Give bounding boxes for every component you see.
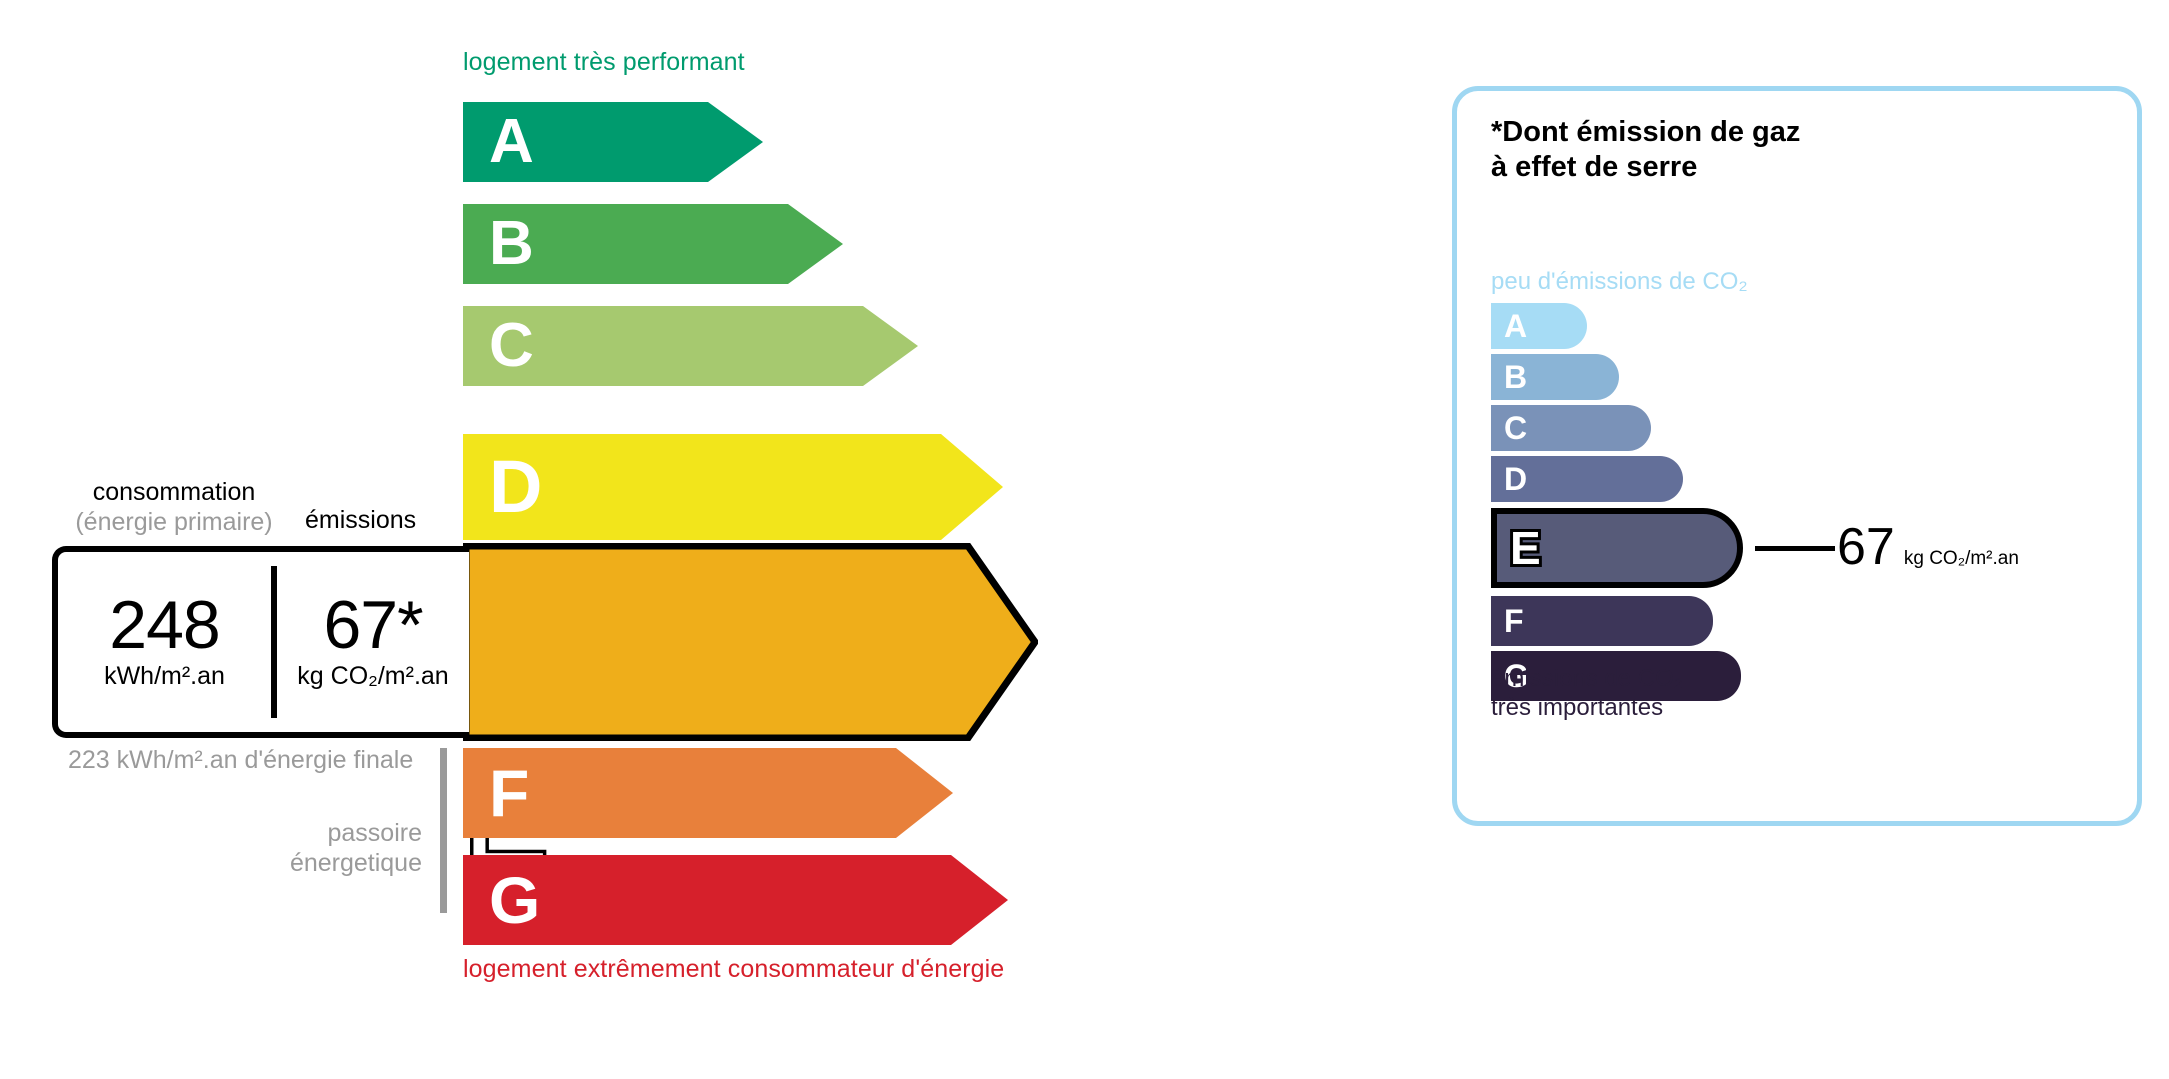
co2-bar-a-letter: A <box>1504 310 1527 342</box>
co2-emissions-panel: *Dont émission de gaz à effet de serre p… <box>1452 86 2142 826</box>
energy-bar-f: F <box>463 748 953 838</box>
co2-bar-e-current: E <box>1491 508 1743 588</box>
co2-top-caption: peu d'émissions de CO₂ <box>1491 268 1748 296</box>
co2-panel-title: *Dont émission de gaz à effet de serre <box>1491 115 1800 186</box>
note-passoire-energetique: passoire énergetique <box>200 818 422 878</box>
co2-value: 67* <box>323 593 422 658</box>
energy-bar-g: G <box>463 855 1008 945</box>
label-consommation: consommation (énergie primaire) <box>64 478 284 537</box>
energy-bar-a: A <box>463 102 763 182</box>
energy-bar-b-letter: B <box>489 213 534 275</box>
passoire-divider-rule <box>440 748 447 913</box>
energy-bar-g-letter: G <box>489 867 540 933</box>
energy-performance-diagram: logement très performant A B C D E <box>0 0 1400 1079</box>
energy-bar-d: D <box>463 434 1003 540</box>
energy-bar-f-letter: F <box>489 760 529 826</box>
energy-bar-a-letter: A <box>489 111 534 173</box>
co2-bar-f-letter: F <box>1504 605 1524 637</box>
co2-callout: 67 kg CO₂/m².an <box>1837 521 2019 573</box>
energy-bar-f-shape <box>463 748 953 838</box>
value-cell-co2: 67* kg CO₂/m².an <box>277 552 469 732</box>
value-cell-primary-energy: 248 kWh/m².an <box>58 552 271 732</box>
energy-bottom-caption: logement extrêmement consommateur d'éner… <box>463 955 1004 984</box>
label-consommation-sub: (énergie primaire) <box>64 508 284 538</box>
energy-bar-c: C <box>463 306 918 386</box>
energy-bar-b: B <box>463 204 843 284</box>
co2-bottom-caption: émissions de CO₂ très importantes <box>1491 665 1683 723</box>
primary-energy-unit: kWh/m².an <box>104 662 225 691</box>
co2-unit: kg CO₂/m².an <box>297 662 448 691</box>
co2-bar-d-letter: D <box>1504 463 1527 495</box>
co2-callout-unit: kg CO₂/m².an <box>1904 548 2019 570</box>
label-consommation-main: consommation <box>93 478 256 506</box>
energy-top-caption: logement très performant <box>463 48 745 77</box>
energy-bar-c-letter: C <box>489 315 534 377</box>
energy-bar-e-shape <box>463 543 1038 741</box>
label-emissions: émissions <box>305 506 416 535</box>
value-box: 248 kWh/m².an 67* kg CO₂/m².an <box>52 546 469 738</box>
energy-bar-d-letter: D <box>489 450 542 524</box>
co2-bar-c-letter: C <box>1504 412 1527 444</box>
co2-bar-d: D <box>1491 456 1683 502</box>
co2-bar-a: A <box>1491 303 1587 349</box>
co2-bar-b-letter: B <box>1504 361 1527 393</box>
energy-bar-g-shape <box>463 855 1008 945</box>
co2-bar-e-letter: E <box>1510 525 1541 571</box>
co2-bar-c: C <box>1491 405 1651 451</box>
co2-bar-f: F <box>1491 596 1713 646</box>
primary-energy-value: 248 <box>109 593 219 658</box>
co2-bar-b: B <box>1491 354 1619 400</box>
co2-callout-leader-line <box>1755 546 1835 551</box>
co2-callout-value: 67 <box>1837 521 1895 573</box>
energy-bar-e-current: E <box>463 543 1038 741</box>
energy-bar-d-shape <box>463 434 1003 540</box>
note-final-energy: 223 kWh/m².an d'énergie finale <box>68 745 413 775</box>
